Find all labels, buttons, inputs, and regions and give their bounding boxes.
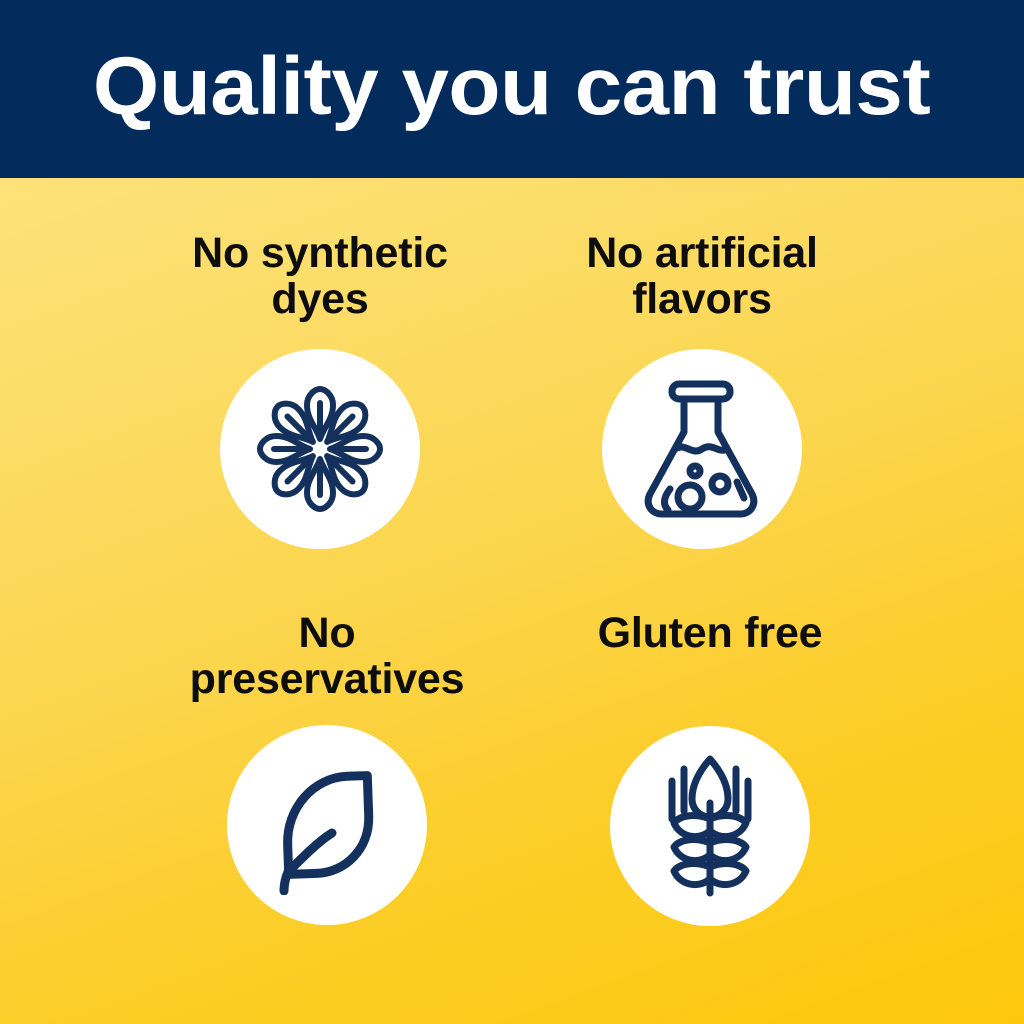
quality-badge-graphic: Quality you can trust No synthetic dyes	[0, 0, 1024, 1024]
page-title: Quality you can trust	[93, 46, 930, 132]
benefit-item-gluten-free: Gluten free	[500, 610, 920, 926]
wheat-icon	[650, 751, 770, 901]
benefits-panel: No synthetic dyes	[0, 178, 1024, 1024]
icon-badge	[220, 349, 420, 549]
icon-badge	[602, 349, 802, 549]
benefit-item-no-preservatives: No preservatives	[117, 610, 537, 925]
benefit-label: Gluten free	[598, 610, 823, 656]
icon-badge	[227, 725, 427, 925]
header-banner: Quality you can trust	[0, 0, 1024, 178]
benefit-label: No preservatives	[162, 610, 492, 703]
dye-splash-icon	[245, 374, 395, 524]
benefit-label: No artificial flavors	[537, 230, 867, 323]
icon-badge	[610, 726, 810, 926]
benefit-label: No synthetic dyes	[155, 230, 485, 323]
flask-icon	[632, 374, 772, 524]
benefit-item-no-synthetic-dyes: No synthetic dyes	[110, 230, 530, 549]
leaf-icon	[257, 755, 397, 895]
benefit-item-no-artificial-flavors: No artificial flavors	[492, 230, 912, 549]
